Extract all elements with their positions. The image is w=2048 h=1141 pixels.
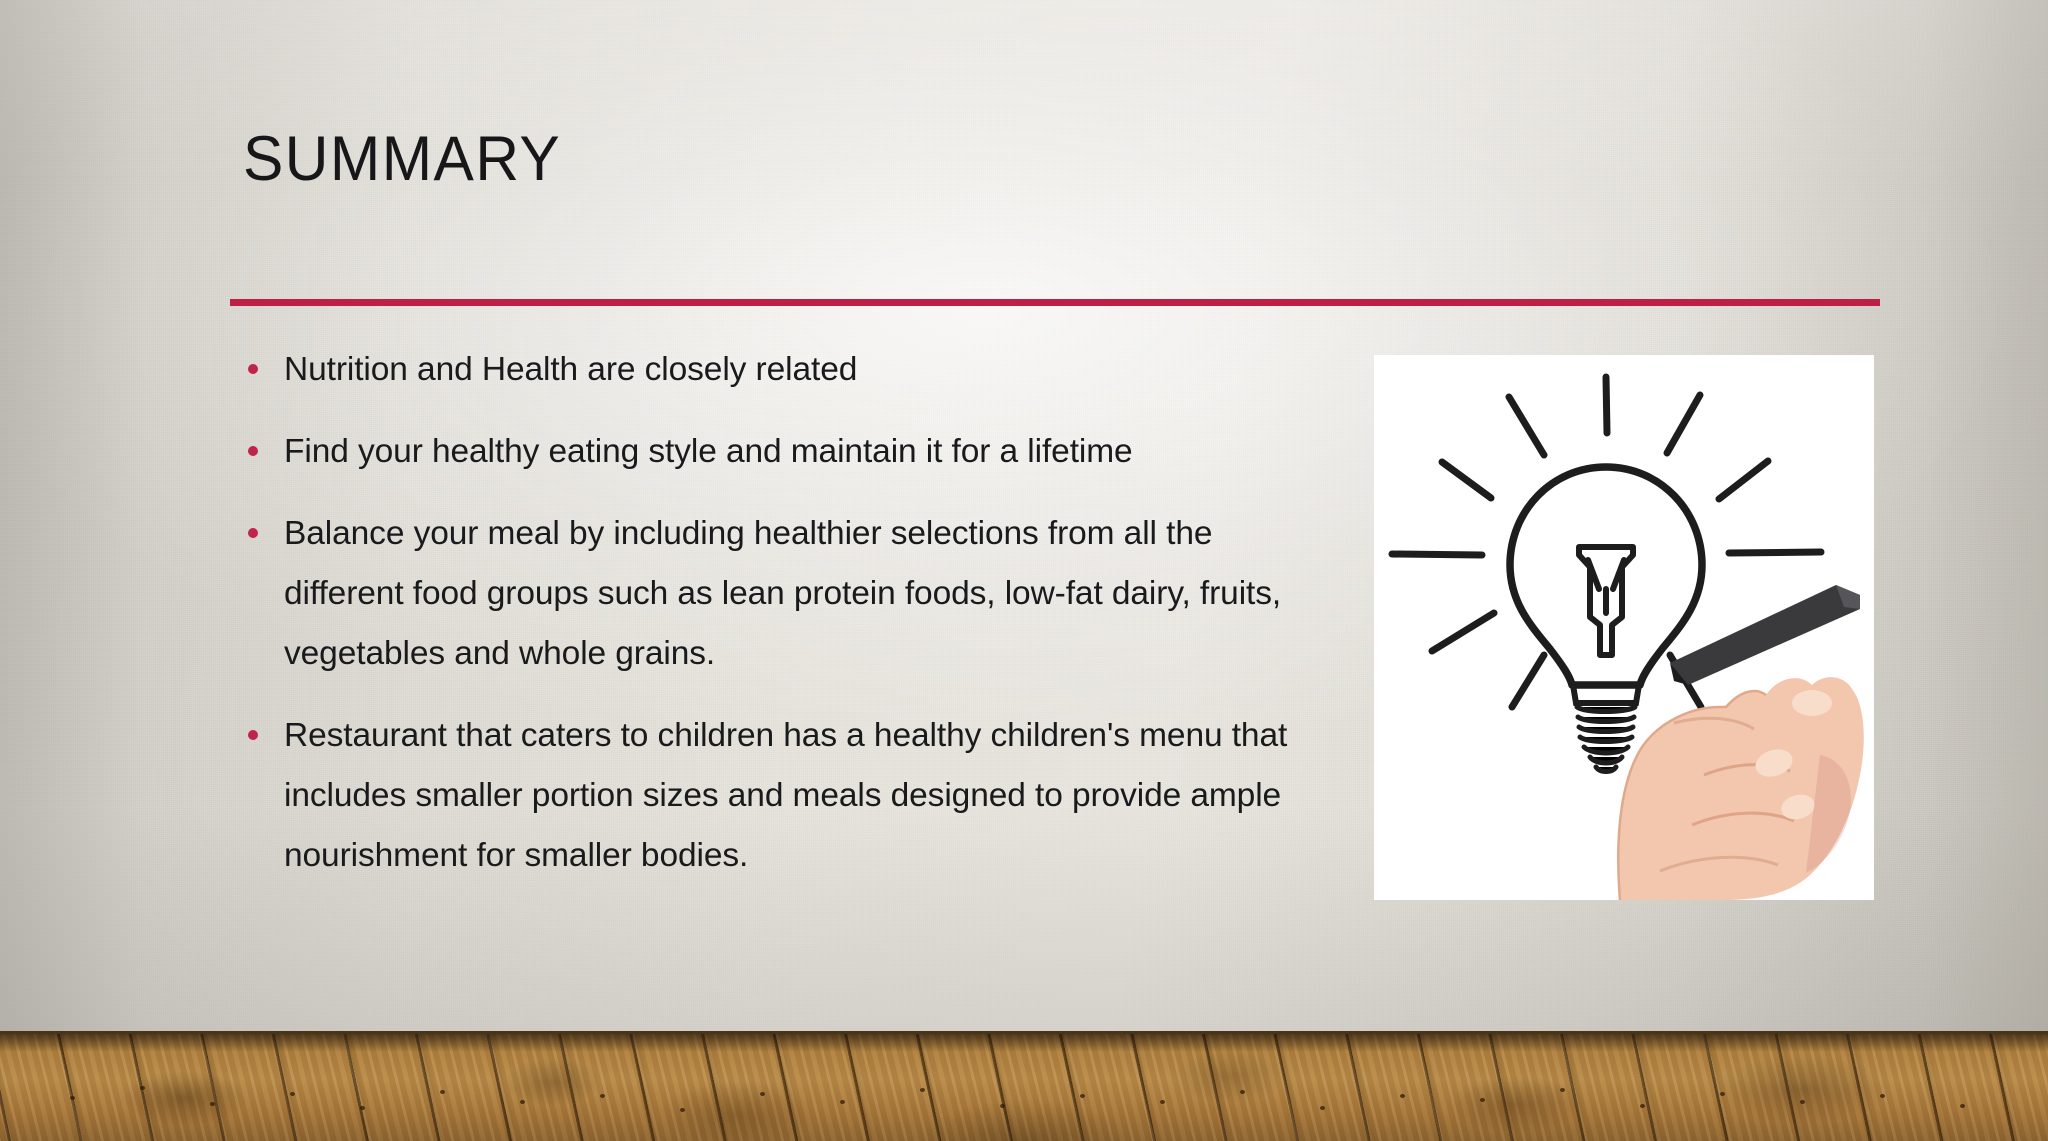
list-item: Balance your meal by including healthier… (236, 504, 1296, 684)
summary-bullet-list: Nutrition and Health are closely related… (236, 340, 1296, 886)
floor-wall-shadow (0, 1034, 2048, 1052)
slide-canvas: SUMMARY Nutrition and Health are closely… (0, 0, 2048, 1141)
list-item: Restaurant that caters to children has a… (236, 706, 1296, 886)
list-item: Nutrition and Health are closely related (236, 340, 1296, 400)
list-item: Find your healthy eating style and maint… (236, 422, 1296, 482)
list-item-text: Balance your meal by including healthier… (284, 515, 1281, 672)
list-item-text: Find your healthy eating style and maint… (284, 433, 1133, 470)
accent-rule (230, 299, 1880, 306)
list-item-text: Restaurant that caters to children has a… (284, 717, 1287, 874)
lightbulb-icon (1374, 355, 1874, 900)
bullet-dot-icon (248, 364, 258, 374)
bullet-dot-icon (248, 528, 258, 538)
bullet-dot-icon (248, 730, 258, 740)
list-item-text: Nutrition and Health are closely related (284, 351, 857, 388)
hand-drawing-lightbulb-image (1374, 355, 1874, 900)
page-title: SUMMARY (243, 123, 561, 195)
bullet-dot-icon (248, 446, 258, 456)
wood-floor-backdrop (0, 1031, 2048, 1141)
